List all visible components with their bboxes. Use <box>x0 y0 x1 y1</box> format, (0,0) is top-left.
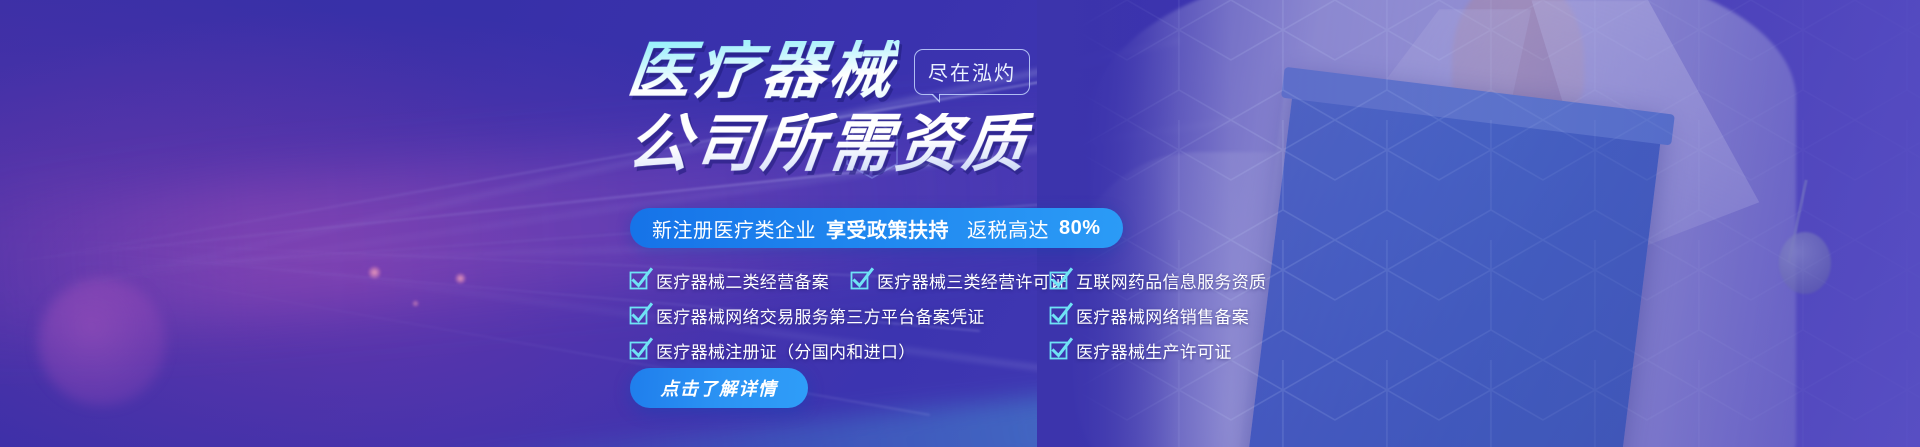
checklist-row: 医疗器械注册证（分国内和进口） 医疗器械生产许可证 <box>630 338 1370 363</box>
checkbox-checked-icon <box>1050 272 1067 289</box>
list-item-label: 医疗器械三类经营许可证 <box>877 268 1067 293</box>
policy-promo-pill: 新注册医疗类企业 享受政策扶持 返税高达 80% <box>630 208 1123 248</box>
promo-text-part2: 享受政策扶持 <box>826 214 949 243</box>
list-item-label: 医疗器械生产许可证 <box>1076 338 1232 363</box>
checkbox-checked-icon <box>630 342 647 359</box>
list-item: 医疗器械注册证（分国内和进口） <box>630 338 916 363</box>
purple-glow-circle <box>38 278 166 406</box>
checklist-row: 医疗器械网络交易服务第三方平台备案凭证 医疗器械网络销售备案 <box>630 303 1370 328</box>
list-item: 医疗器械二类经营备案 <box>630 268 829 293</box>
list-item-label: 医疗器械网络交易服务第三方平台备案凭证 <box>656 303 985 328</box>
checkbox-checked-icon <box>1050 307 1067 324</box>
checkbox-checked-icon <box>630 272 647 289</box>
headline-line-2: 公司所需资质 <box>624 113 1034 176</box>
headline-line-1: 医疗器械 <box>624 40 900 103</box>
headline-row-1: 医疗器械 尽在泓灼 <box>628 40 1030 103</box>
cta-button-label: 点击了解详情 <box>661 375 778 401</box>
banner-content: 医疗器械 尽在泓灼 公司所需资质 新注册医疗类企业 享受政策扶持 返税高达 80… <box>628 0 1568 447</box>
cta-button[interactable]: 点击了解详情 <box>630 368 808 408</box>
list-item: 互联网药品信息服务资质 <box>1050 268 1266 293</box>
list-item-label: 医疗器械二类经营备案 <box>656 268 829 293</box>
list-item-label: 互联网药品信息服务资质 <box>1076 268 1266 293</box>
list-item-label: 医疗器械网络销售备案 <box>1076 303 1249 328</box>
list-item: 医疗器械生产许可证 <box>1050 338 1232 363</box>
checkbox-checked-icon <box>1050 342 1067 359</box>
medical-device-qualification-banner: 医疗器械 尽在泓灼 公司所需资质 新注册医疗类企业 享受政策扶持 返税高达 80… <box>0 0 1920 447</box>
list-item: 医疗器械三类经营许可证 <box>851 268 1067 293</box>
checklist-row: 医疗器械二类经营备案 医疗器械三类经营许可证 互联网药品信息服务 <box>630 268 1370 293</box>
list-item: 医疗器械网络销售备案 <box>1050 303 1249 328</box>
list-item: 医疗器械网络交易服务第三方平台备案凭证 <box>630 303 985 328</box>
brand-badge: 尽在泓灼 <box>914 49 1030 95</box>
headline-row-2: 公司所需资质 <box>628 113 1030 176</box>
checkbox-checked-icon <box>851 272 868 289</box>
list-item-label: 医疗器械注册证（分国内和进口） <box>656 338 916 363</box>
promo-text-part4: 80% <box>1059 217 1101 240</box>
promo-text-part3: 返税高达 <box>967 214 1049 243</box>
qualification-checklist: 医疗器械二类经营备案 医疗器械三类经营许可证 互联网药品信息服务 <box>630 268 1370 373</box>
checkbox-checked-icon <box>630 307 647 324</box>
promo-text-part1: 新注册医疗类企业 <box>652 214 816 243</box>
